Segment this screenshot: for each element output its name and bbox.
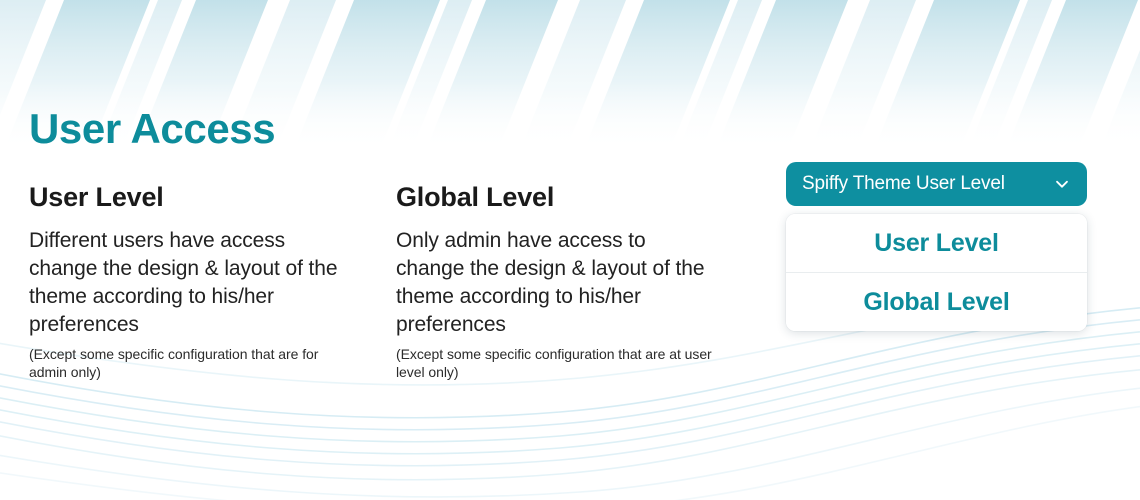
slide-canvas: User Access User Level Different users h… [0, 0, 1140, 500]
column-heading-global-level: Global Level [396, 183, 741, 213]
dropdown-option-global-level[interactable]: Global Level [786, 272, 1087, 331]
dropdown-menu: User Level Global Level [786, 214, 1087, 331]
chevron-down-icon [1053, 175, 1071, 193]
column-global-level: Global Level Only admin have access to c… [396, 183, 741, 381]
dropdown-selected-label: Spiffy Theme User Level [802, 173, 1053, 195]
column-body-global-level: Only admin have access to change the des… [396, 227, 716, 339]
dropdown-toggle-button[interactable]: Spiffy Theme User Level [786, 162, 1087, 206]
column-user-level: User Level Different users have access c… [29, 183, 374, 381]
dropdown-option-user-level[interactable]: User Level [786, 214, 1087, 272]
column-body-user-level: Different users have access change the d… [29, 227, 349, 339]
page-title: User Access [29, 106, 275, 152]
slide-content: User Access User Level Different users h… [0, 0, 1140, 500]
column-note-user-level: (Except some specific configuration that… [29, 345, 359, 381]
column-note-global-level: (Except some specific configuration that… [396, 345, 726, 381]
column-heading-user-level: User Level [29, 183, 374, 213]
user-level-dropdown: Spiffy Theme User Level User Level Globa… [786, 162, 1087, 331]
